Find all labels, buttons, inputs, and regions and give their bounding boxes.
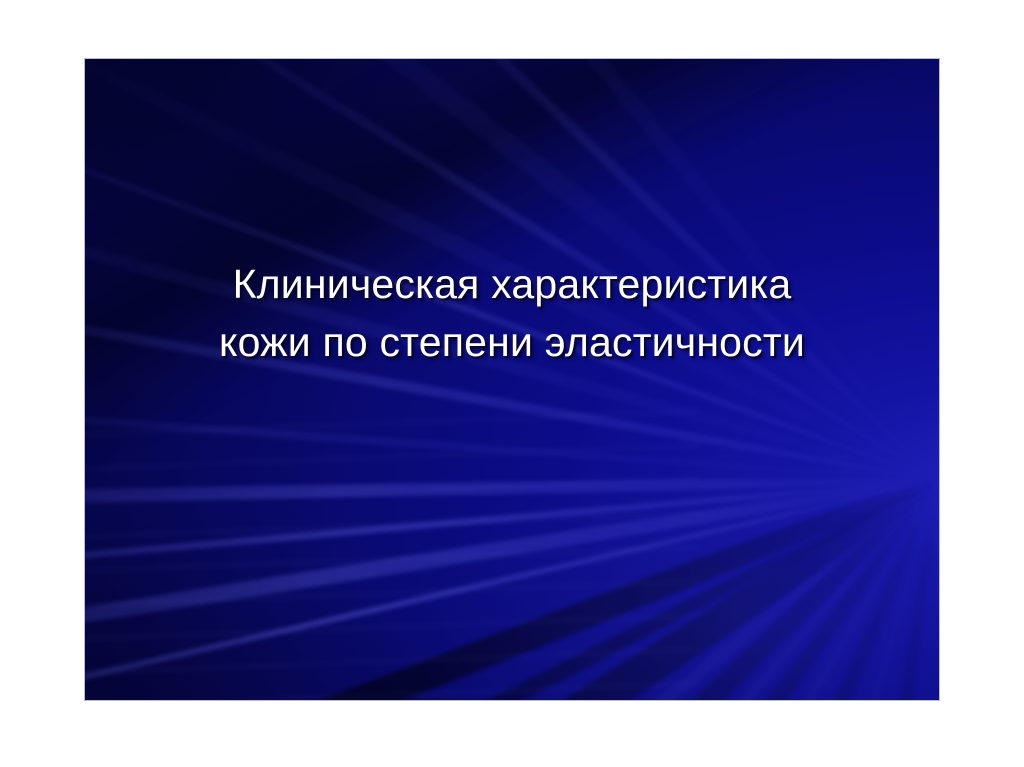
page-canvas: Клиническая характеристика кожи по степе… <box>0 0 1024 767</box>
title-line-1: Клиническая характеристика <box>101 255 923 313</box>
title-line-2: кожи по степени эластичности <box>101 313 923 371</box>
background-soft-overlay <box>85 59 939 700</box>
slide-title: Клиническая характеристика кожи по степе… <box>85 255 939 371</box>
presentation-slide: Клиническая характеристика кожи по степе… <box>84 58 940 701</box>
